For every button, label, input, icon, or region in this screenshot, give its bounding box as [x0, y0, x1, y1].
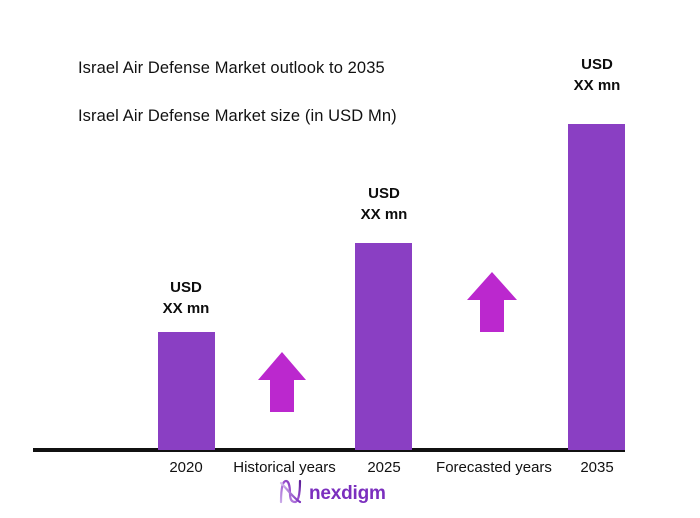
bar-label-2025: USD XX mn: [334, 183, 434, 225]
bar-label-2020-line2: XX mn: [136, 298, 236, 319]
bar-2020: [158, 332, 215, 450]
nexdigm-n-wave-mark-icon: [278, 478, 303, 509]
bar-label-2035-line1: USD: [547, 54, 647, 75]
bar-label-2025-line2: XX mn: [334, 204, 434, 225]
x-tick-2035: 2035: [547, 459, 647, 476]
bar-2025: [355, 243, 412, 450]
up-arrow-icon: [256, 350, 308, 414]
chart-slide: Israel Air Defense Market outlook to 203…: [0, 0, 700, 518]
plot-area: USD XX mn USD XX mn USD XX mn 2020: [0, 0, 700, 518]
x-axis-line: [33, 448, 625, 452]
x-tick-2025: 2025: [334, 459, 434, 476]
up-arrow-icon: [465, 270, 519, 334]
growth-arrow-forecast: [465, 270, 519, 334]
bar-label-2035-line2: XX mn: [547, 75, 647, 96]
bar-2035: [568, 124, 625, 450]
bar-label-2025-line1: USD: [334, 183, 434, 204]
bar-label-2020-line1: USD: [136, 277, 236, 298]
x-period-forecasted: Forecasted years: [420, 459, 568, 476]
growth-arrow-historical: [256, 350, 308, 414]
nexdigm-wordmark: nexdigm: [309, 484, 386, 503]
bar-label-2035: USD XX mn: [547, 54, 647, 96]
nexdigm-logo: nexdigm: [278, 478, 386, 509]
bar-label-2020: USD XX mn: [136, 277, 236, 319]
